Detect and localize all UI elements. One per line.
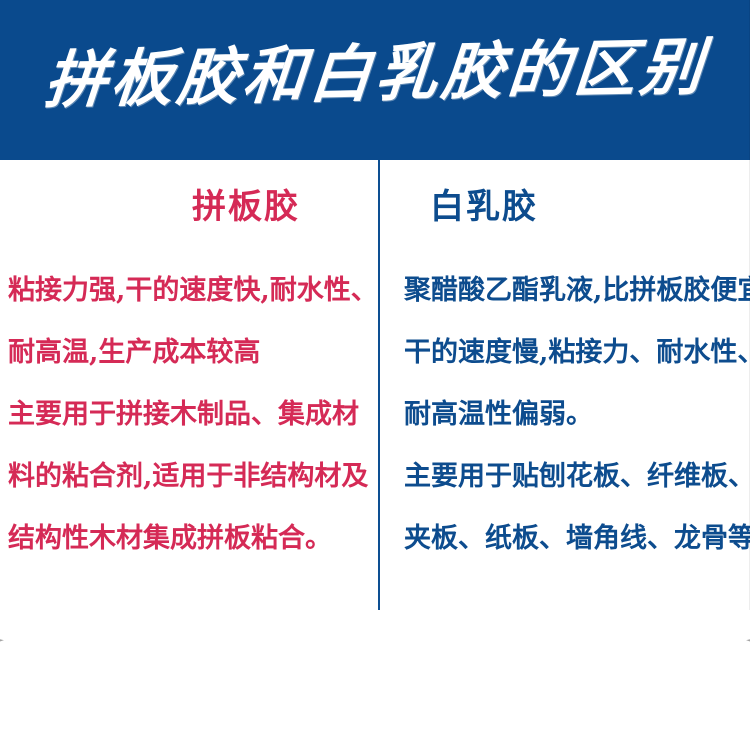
column-text-bairujiao: 聚醋酸乙酯乳液,比拼板胶便宜, 干的速度慢,粘接力、耐水性、 耐高温性偏弱。 主… [404, 224, 742, 570]
header-banner: 拼板胶和白乳胶的区别 [0, 0, 750, 160]
column-pinbanjiao: 拼板胶 粘接力强,干的速度快,耐水性、 耐高温,生产成本较高 主要用于拼接木制品… [0, 160, 378, 610]
text-line: 干的速度慢,粘接力、耐水性、 [404, 322, 742, 384]
page-curl-shadow [0, 610, 750, 738]
column-divider [378, 160, 380, 610]
text-line: 夹板、纸板、墙角线、龙骨等。 [404, 508, 742, 570]
column-text-pinbanjiao: 粘接力强,干的速度快,耐水性、 耐高温,生产成本较高 主要用于拼接木制品、集成材… [8, 224, 372, 570]
text-line: 料的粘合剂,适用于非结构材及 [8, 446, 372, 508]
product-comparison-poster: 拼板胶和白乳胶的区别 拼板胶 粘接力强,干的速度快,耐水性、 耐高温,生产成本较… [0, 0, 750, 738]
column-heading-pinbanjiao: 拼板胶 [8, 160, 372, 224]
text-line: 耐高温性偏弱。 [404, 384, 742, 446]
text-line: 粘接力强,干的速度快,耐水性、 [8, 260, 372, 322]
text-line: 主要用于贴刨花板、纤维板、 [404, 446, 742, 508]
text-line: 结构性木材集成拼板粘合。 [8, 508, 372, 570]
column-heading-bairujiao: 白乳胶 [404, 160, 742, 224]
column-bairujiao: 白乳胶 聚醋酸乙酯乳液,比拼板胶便宜, 干的速度慢,粘接力、耐水性、 耐高温性偏… [378, 160, 750, 610]
text-line: 主要用于拼接木制品、集成材 [8, 384, 372, 446]
text-line: 耐高温,生产成本较高 [8, 322, 372, 384]
page-title: 拼板胶和白乳胶的区别 [41, 36, 709, 124]
comparison-body: 拼板胶 粘接力强,干的速度快,耐水性、 耐高温,生产成本较高 主要用于拼接木制品… [0, 160, 750, 610]
text-line: 聚醋酸乙酯乳液,比拼板胶便宜, [404, 260, 742, 322]
